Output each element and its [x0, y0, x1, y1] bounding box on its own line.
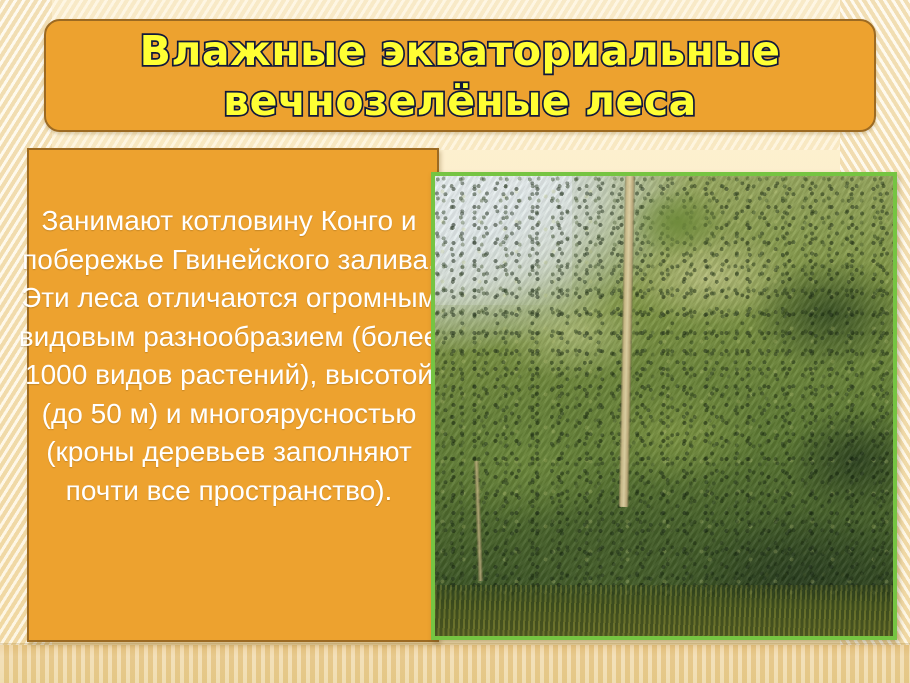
slide-canvas: Влажные экваториальные вечнозелёные леса… — [0, 0, 910, 683]
slide-title: Влажные экваториальные вечнозелёные леса — [126, 26, 795, 126]
forest-photo — [435, 176, 893, 636]
description-text: Занимают котловину Конго и побережье Гви… — [6, 202, 452, 510]
forest-photo-frame — [431, 172, 897, 640]
photo-emergent-crown — [618, 176, 737, 259]
title-banner: Влажные экваториальные вечнозелёные леса — [44, 19, 876, 132]
photo-understory — [435, 585, 893, 636]
background-bottom-band — [0, 645, 910, 683]
